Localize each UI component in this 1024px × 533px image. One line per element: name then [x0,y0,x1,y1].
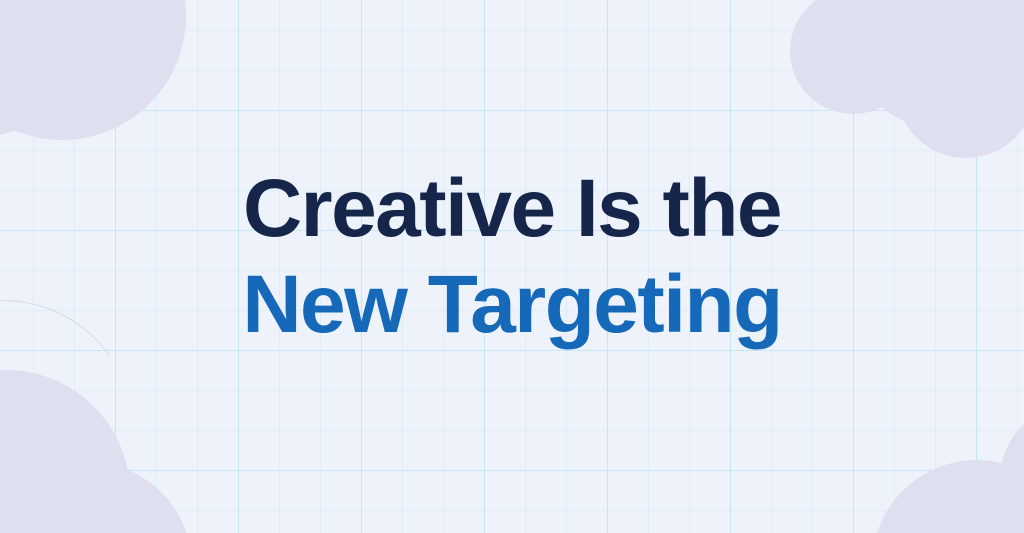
bottom-left-cloud-large-icon [0,370,130,533]
page-title: Creative Is the New Targeting [0,168,1024,346]
top-right-cloud-small-icon [896,18,1024,158]
top-left-blob-small-icon [0,0,72,138]
top-right-floating-dot-icon [928,106,976,154]
top-right-cloud-large-icon [840,0,1024,132]
bottom-right-cloud-small-icon [1000,404,1024,533]
bottom-right-cloud-large-icon [872,460,1024,533]
headline-line-accent: New Targeting [0,264,1024,346]
top-left-blob-large-icon [0,0,186,140]
top-right-cloud-medium-icon [790,0,916,114]
slide-canvas: Creative Is the New Targeting [0,0,1024,533]
headline-line-primary: Creative Is the [0,168,1024,250]
bottom-left-cloud-small-icon [0,462,192,533]
